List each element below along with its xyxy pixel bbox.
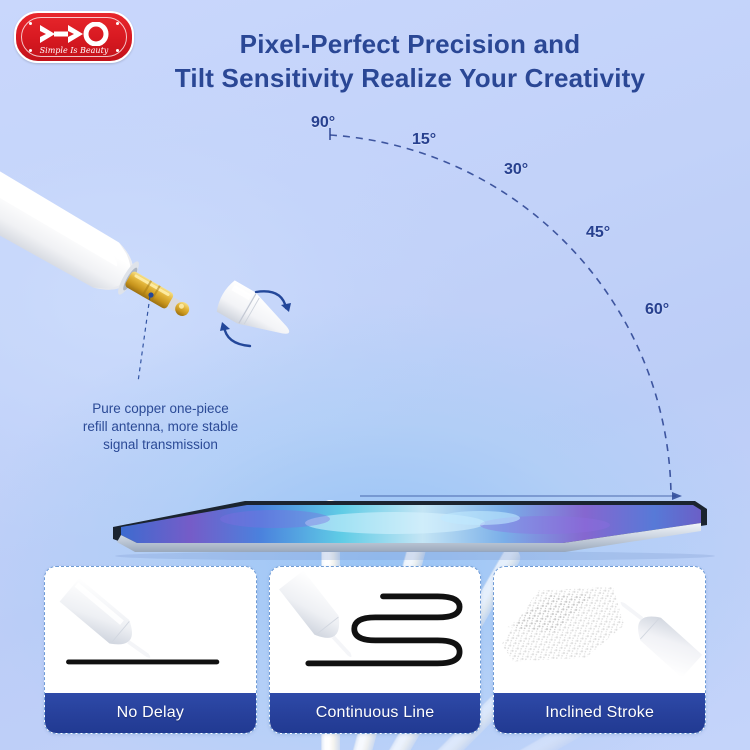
feature-panel-continuous-line[interactable]: Continuous Line [269,566,482,734]
feature-panel-row: No Delay [0,566,750,734]
feature-panel-no-delay[interactable]: No Delay [44,566,257,734]
logo-tagline: Simple Is Beauty [40,46,109,56]
panel-label: No Delay [45,693,256,733]
panel-label: Inclined Stroke [494,693,705,733]
stylus-exploded-view [0,120,340,420]
callout-line-1: Pure copper one-piece [48,400,273,418]
copper-refill-antenna [124,270,193,320]
callout-leader-line [138,292,154,382]
panel-artwork [270,567,481,687]
copper-antenna-callout: Pure copper one-piece refill antenna, mo… [48,400,273,454]
panel-artwork [494,567,705,687]
rotation-arrow-head [281,303,291,312]
feature-panel-inclined-stroke[interactable]: Inclined Stroke [493,566,706,734]
angle-label-15: 15° [412,131,436,149]
logo-xo-mark [37,22,111,46]
angle-label-45: 45° [586,224,610,242]
detached-pen-tip [214,279,298,348]
angle-label-30: 30° [504,161,528,179]
angle-label-60: 60° [645,301,669,319]
tablet-device [95,485,715,560]
grainy-shading-stroke-icon [494,567,705,687]
serpentine-stroke-icon [270,567,481,687]
product-marketing-image: Simple Is Beauty Pixel-Perfect Precision… [0,0,750,750]
straight-line-stroke-icon [45,567,256,687]
panel-artwork [45,567,256,687]
callout-line-2: refill antenna, more stable [48,418,273,436]
stylus-body [0,120,148,307]
callout-line-3: signal transmission [48,436,273,454]
panel-label: Continuous Line [270,693,481,733]
rotation-arrow-head [220,322,230,331]
